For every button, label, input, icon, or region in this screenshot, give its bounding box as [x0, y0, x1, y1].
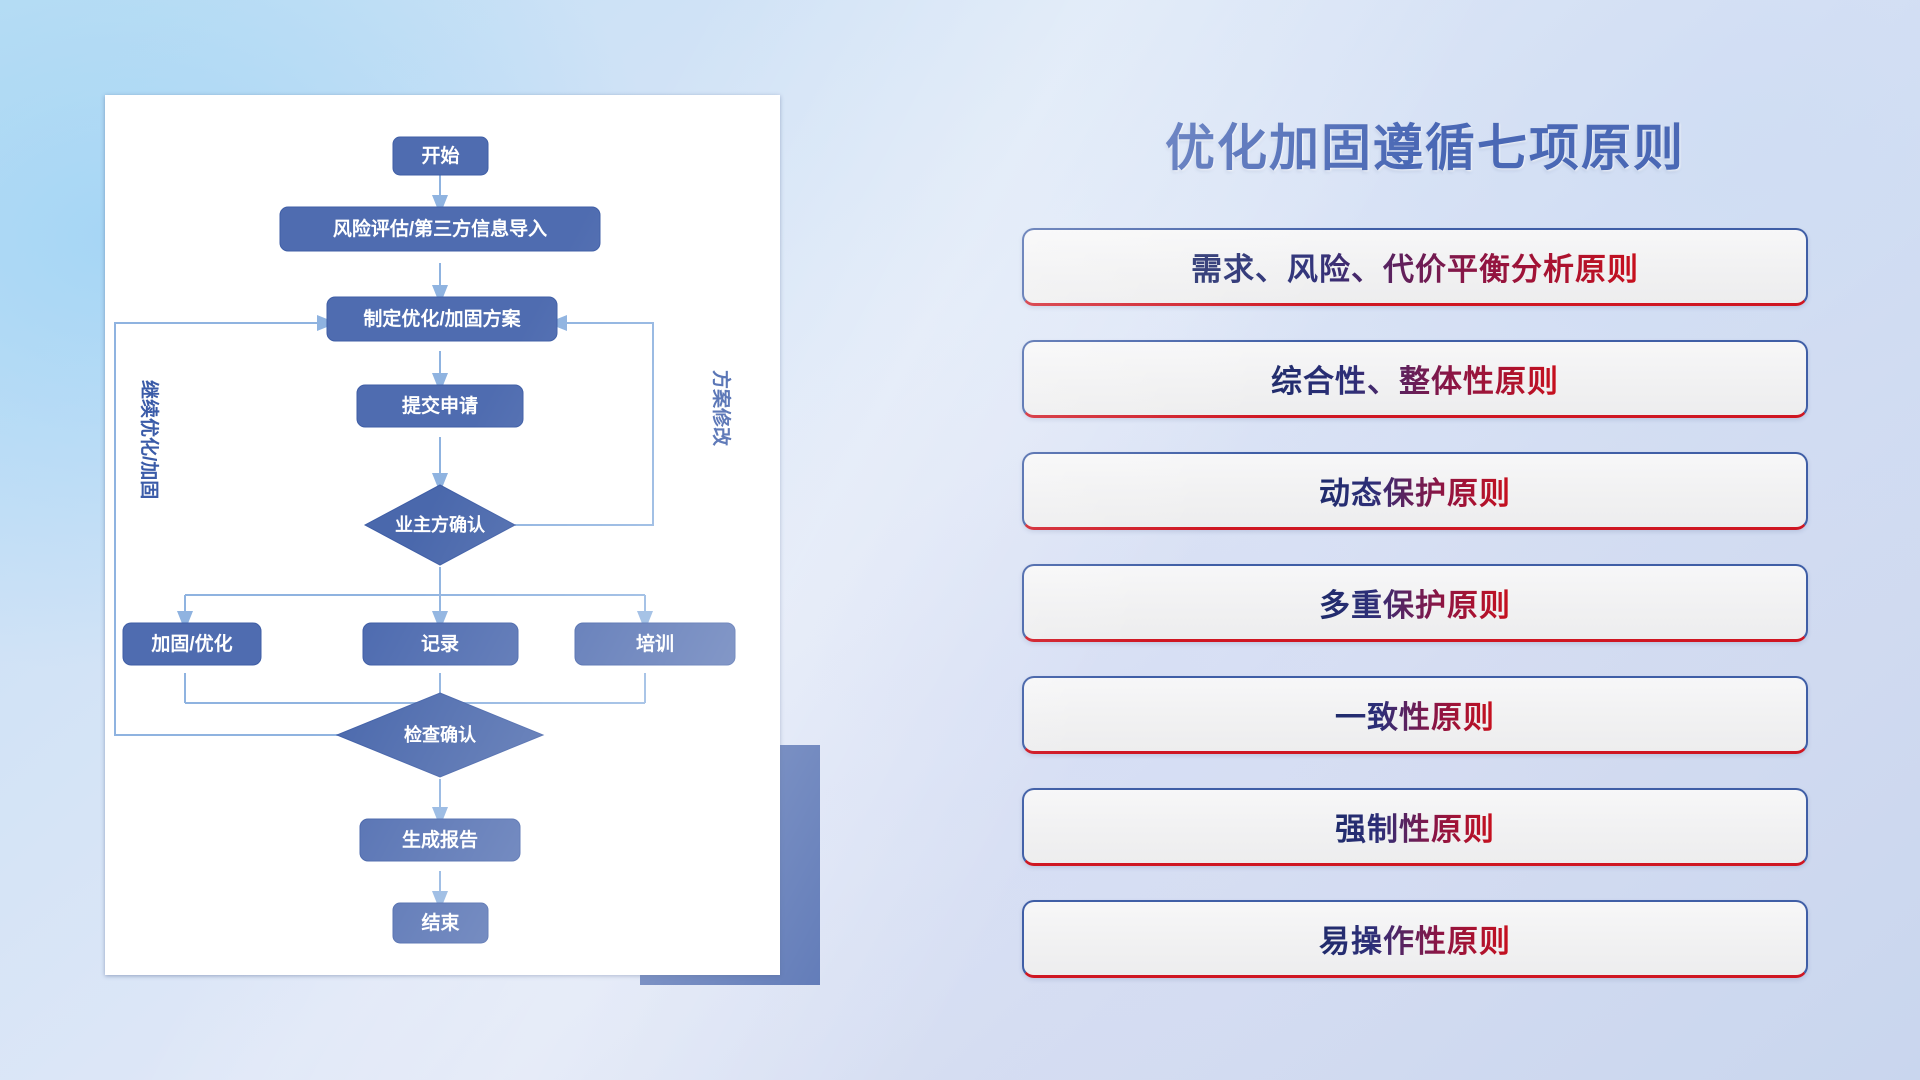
flowchart-panel: 开始 风险评估/第三方信息导入 制定优化/加固方案 提交申请 业主方确认 加固/: [105, 95, 780, 975]
principle-label: 动态保护原则: [1319, 468, 1511, 513]
principle-card-7[interactable]: 易操作性原则: [1022, 900, 1808, 978]
node-plan-label: 制定优化/加固方案: [363, 307, 521, 330]
slide-canvas: 开始 风险评估/第三方信息导入 制定优化/加固方案 提交申请 业主方确认 加固/: [0, 0, 1920, 1080]
node-end[interactable]: 结束: [393, 903, 488, 943]
node-owner-confirm[interactable]: 业主方确认: [365, 485, 515, 565]
node-check-confirm[interactable]: 检查确认: [337, 693, 543, 777]
principles-card-list: 需求、风险、代价平衡分析原则 综合性、整体性原则 动态保护原则 多重保护原则 一…: [1022, 228, 1808, 978]
node-report-label: 生成报告: [402, 828, 478, 851]
edge-label-plan-revision: 方案修改: [710, 370, 733, 447]
node-submit-label: 提交申请: [402, 394, 478, 417]
principle-card-3[interactable]: 动态保护原则: [1022, 452, 1808, 530]
principles-title: 优化加固遵循七项原则: [1030, 108, 1820, 180]
node-report[interactable]: 生成报告: [360, 819, 520, 861]
edge-label-continue-optimize: 继续优化/加固: [138, 380, 161, 499]
edge-right-loop: [515, 323, 653, 525]
node-train-label: 培训: [636, 632, 674, 655]
flowchart-diagram: 开始 风险评估/第三方信息导入 制定优化/加固方案 提交申请 业主方确认 加固/: [105, 95, 780, 975]
node-record[interactable]: 记录: [363, 623, 518, 665]
node-start-label: 开始: [421, 144, 459, 167]
principle-card-2[interactable]: 综合性、整体性原则: [1022, 340, 1808, 418]
node-owner-confirm-label: 业主方确认: [395, 514, 486, 535]
principle-card-1[interactable]: 需求、风险、代价平衡分析原则: [1022, 228, 1808, 306]
node-risk[interactable]: 风险评估/第三方信息导入: [280, 207, 600, 251]
principle-label: 综合性、整体性原则: [1271, 356, 1559, 401]
principle-label: 一致性原则: [1335, 692, 1495, 737]
node-harden[interactable]: 加固/优化: [123, 623, 261, 665]
node-end-label: 结束: [421, 911, 460, 934]
principle-label: 强制性原则: [1335, 804, 1495, 849]
node-start[interactable]: 开始: [393, 137, 488, 175]
principle-card-4[interactable]: 多重保护原则: [1022, 564, 1808, 642]
node-risk-label: 风险评估/第三方信息导入: [333, 217, 547, 240]
node-train[interactable]: 培训: [575, 623, 735, 665]
node-harden-label: 加固/优化: [150, 632, 232, 655]
node-submit[interactable]: 提交申请: [357, 385, 523, 427]
principle-card-6[interactable]: 强制性原则: [1022, 788, 1808, 866]
principle-label: 多重保护原则: [1319, 580, 1511, 625]
node-plan[interactable]: 制定优化/加固方案: [327, 297, 557, 341]
node-check-confirm-label: 检查确认: [404, 724, 477, 745]
principle-label: 易操作性原则: [1319, 916, 1511, 961]
node-record-label: 记录: [421, 633, 459, 655]
principle-card-5[interactable]: 一致性原则: [1022, 676, 1808, 754]
principle-label: 需求、风险、代价平衡分析原则: [1191, 244, 1639, 289]
